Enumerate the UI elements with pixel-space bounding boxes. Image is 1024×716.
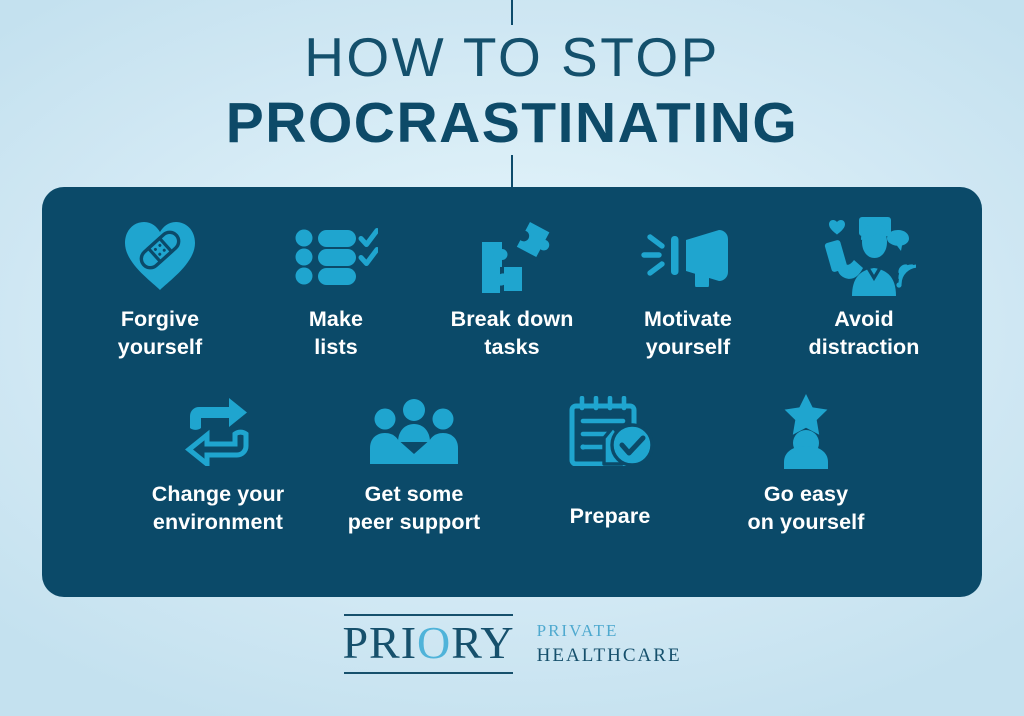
swap-arrows-icon — [180, 392, 256, 470]
logo-tagline: PRIVATE HEALTHCARE — [537, 620, 682, 669]
tips-row-2: Change your environment — [42, 392, 982, 537]
tip-label: Forgive yourself — [118, 305, 202, 362]
heart-bandage-icon — [121, 217, 199, 295]
calendar-checkmark-pencil-icon — [566, 392, 654, 470]
person-distracted-phone-icon — [812, 217, 916, 295]
priory-logo: PRIORY PRIVATE HEALTHCARE — [0, 614, 1024, 674]
connector-line-top — [511, 0, 513, 25]
tip-forgive-yourself: Forgive yourself — [72, 217, 248, 362]
megaphone-icon — [640, 217, 736, 295]
infographic-poster: HOW TO STOP PROCRASTINATING — [0, 0, 1024, 716]
logo-word-pri: PRI — [342, 617, 417, 668]
title-line-2: PROCRASTINATING — [0, 91, 1024, 157]
puzzle-pieces-icon — [468, 217, 556, 295]
page-title: HOW TO STOP PROCRASTINATING — [0, 30, 1024, 157]
checklist-icon — [294, 217, 378, 295]
tip-label: Prepare — [570, 502, 651, 530]
tip-label: Break down tasks — [451, 305, 574, 362]
tip-label: Get some peer support — [348, 480, 481, 537]
tip-break-down-tasks: Break down tasks — [424, 217, 600, 362]
tip-change-your-environment: Change your environment — [120, 392, 316, 537]
tip-label: Motivate yourself — [644, 305, 732, 362]
tip-make-lists: Make lists — [248, 217, 424, 362]
connector-line-bottom — [511, 155, 513, 188]
tip-label: Go easy on yourself — [748, 480, 865, 537]
tip-motivate-yourself: Motivate yourself — [600, 217, 776, 362]
tip-go-easy-on-yourself: Go easy on yourself — [708, 392, 904, 537]
logo-word-o: O — [417, 617, 451, 668]
logo-tagline-private: PRIVATE — [537, 620, 682, 643]
logo-tagline-healthcare: HEALTHCARE — [537, 643, 682, 669]
tip-label: Change your environment — [152, 480, 285, 537]
logo-wordmark: PRIORY — [342, 614, 514, 674]
group-people-icon — [370, 392, 458, 470]
tip-label: Make lists — [309, 305, 363, 362]
person-star-icon — [773, 392, 839, 470]
tips-row-1: Forgive yourself Make lists — [42, 217, 982, 362]
tips-panel: Forgive yourself Make lists — [42, 187, 982, 597]
title-line-1: HOW TO STOP — [0, 30, 1024, 85]
tip-prepare: Prepare — [512, 392, 708, 530]
logo-word-ry: RY — [451, 617, 514, 668]
tip-label: Avoid distraction — [808, 305, 919, 362]
tip-avoid-distraction: Avoid distraction — [776, 217, 952, 362]
tip-get-some-peer-support: Get some peer support — [316, 392, 512, 537]
